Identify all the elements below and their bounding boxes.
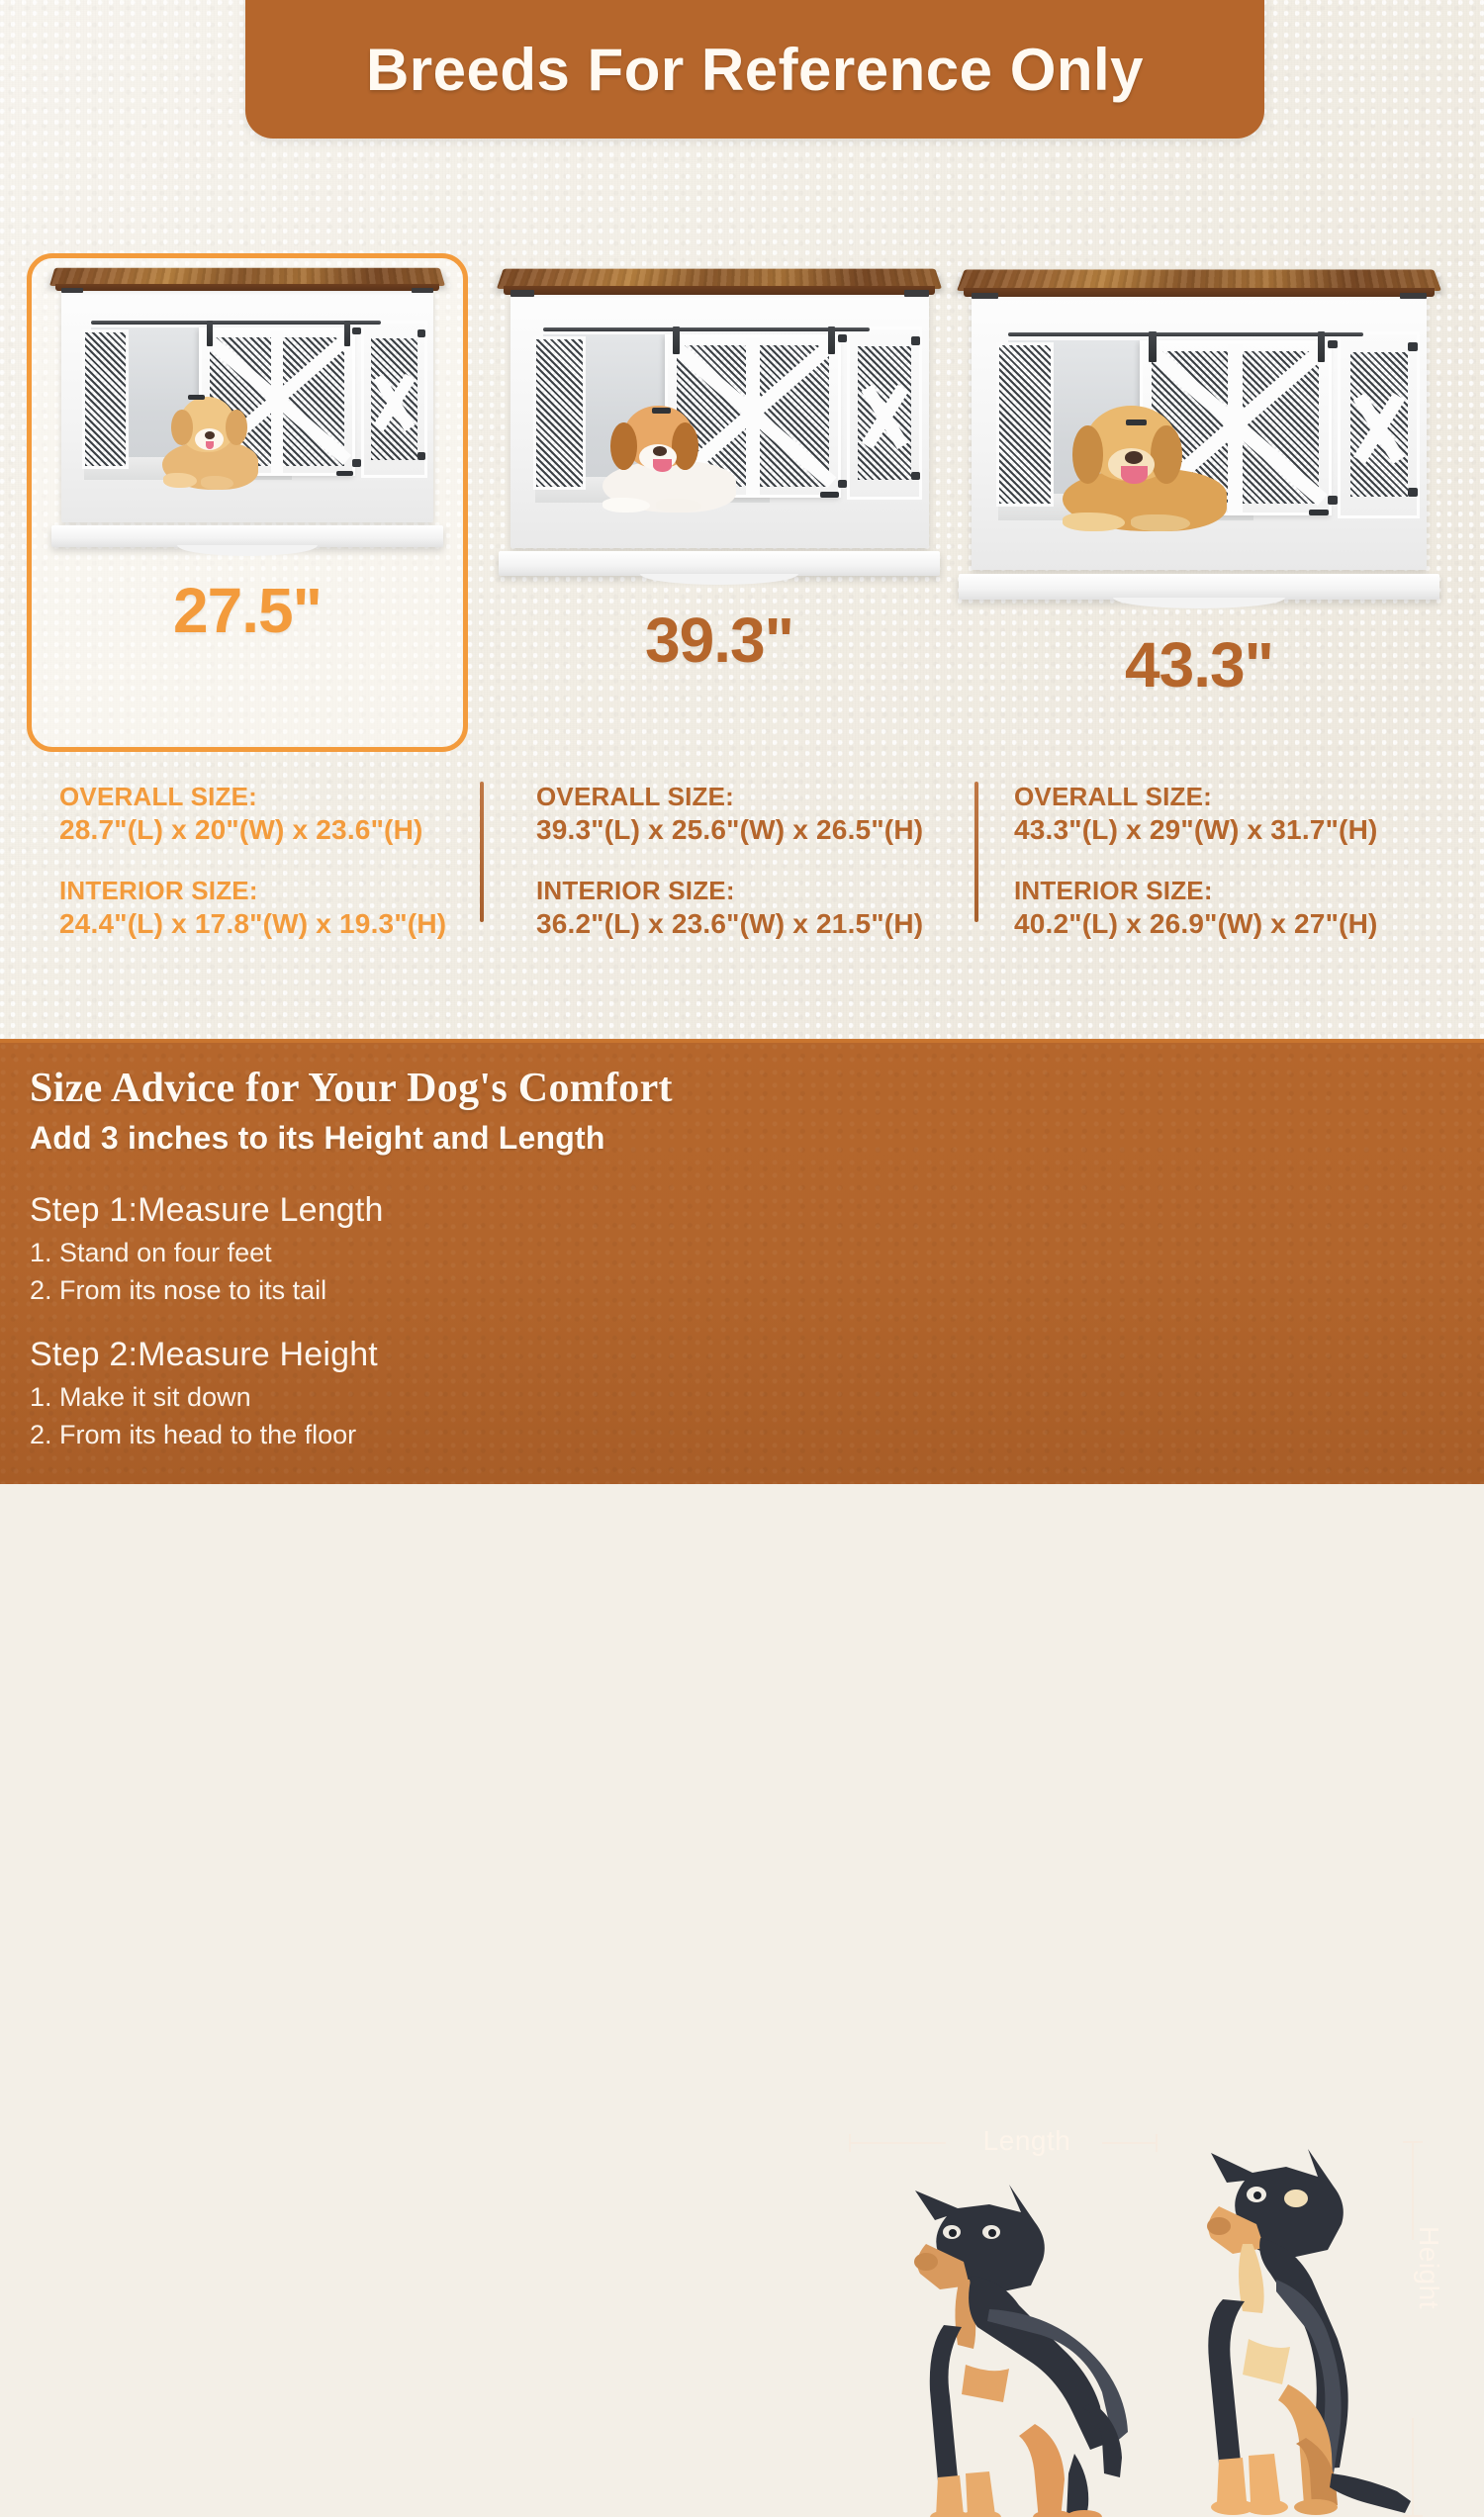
crate-body xyxy=(510,294,929,548)
step-2-line-2: 2. From its head to the floor xyxy=(30,1416,378,1453)
dog-toy-poodle xyxy=(162,397,259,490)
overall-size-value-3: 43.3"(L) x 29"(W) x 31.7"(H) xyxy=(1014,813,1449,847)
overall-size-label-3: OVERALL SIZE: xyxy=(1014,782,1449,812)
product-image-1 xyxy=(30,259,465,556)
length-label: Length xyxy=(952,2125,1102,2157)
door-latch-bottom-icon[interactable] xyxy=(1309,510,1330,515)
step-1-line-2: 2. From its nose to its tail xyxy=(30,1271,384,1309)
size-label-2: 39.3" xyxy=(492,604,947,677)
step-2-title: Step 2:Measure Height xyxy=(30,1336,378,1374)
spec-block-1: OVERALL SIZE: 28.7"(L) x 20"(W) x 23.6"(… xyxy=(59,782,475,941)
handle-icon[interactable] xyxy=(1408,488,1418,497)
wood-bracket-icon xyxy=(972,293,998,300)
hinge-icon xyxy=(838,480,847,488)
product-column-1: 27.5" xyxy=(30,259,465,647)
wood-bracket-icon xyxy=(510,290,535,296)
dog-illustration-sitting xyxy=(1158,2141,1415,2517)
wood-bracket-icon xyxy=(412,288,433,294)
x-brace-icon xyxy=(1345,349,1413,501)
product-image-3 xyxy=(952,259,1446,610)
interior-size-label-2: INTERIOR SIZE: xyxy=(536,876,962,906)
dog-beagle xyxy=(603,406,736,513)
handle-icon[interactable] xyxy=(417,329,425,336)
overall-size-label-2: OVERALL SIZE: xyxy=(536,782,962,812)
dog-illustration-standing xyxy=(841,2171,1167,2517)
height-bar-bottom xyxy=(1412,2418,1414,2517)
height-measure-guide: Height xyxy=(1397,2141,1429,2517)
crate-body xyxy=(61,291,433,522)
spec-divider-2 xyxy=(974,782,978,922)
wood-edge xyxy=(55,284,439,292)
step-1-line-1: 1. Stand on four feet xyxy=(30,1234,384,1271)
handle-icon[interactable] xyxy=(1408,342,1418,351)
advice-subtitle: Add 3 inches to its Height and Length xyxy=(30,1120,605,1157)
x-brace-icon xyxy=(854,343,915,484)
spec-block-3: OVERALL SIZE: 43.3"(L) x 29"(W) x 31.7"(… xyxy=(1014,782,1449,941)
sliding-rail xyxy=(91,321,381,325)
dog-crate-large xyxy=(957,259,1441,610)
product-image-2 xyxy=(492,259,947,586)
spec-block-2: OVERALL SIZE: 39.3"(L) x 25.6"(W) x 26.5… xyxy=(536,782,962,941)
product-column-3: 43.3" xyxy=(952,259,1446,701)
spec-divider-1 xyxy=(480,782,484,922)
crate-body xyxy=(972,296,1428,570)
interior-size-value-1: 24.4"(L) x 17.8"(W) x 19.3"(H) xyxy=(59,907,475,941)
rail-hanger-icon xyxy=(673,326,680,354)
wood-edge xyxy=(504,286,936,295)
dog-crate-medium xyxy=(497,259,942,586)
rail-hanger-icon xyxy=(828,326,835,354)
handle-icon[interactable] xyxy=(911,472,920,480)
header-banner: Breeds For Reference Only xyxy=(245,0,1264,139)
dog-crate-small xyxy=(49,259,445,556)
mesh-panel-left-icon xyxy=(996,342,1054,507)
hinge-icon xyxy=(1328,496,1338,505)
size-advice-panel: Size Advice for Your Dog's Comfort Add 3… xyxy=(0,1039,1484,1484)
rail-hanger-icon xyxy=(1149,331,1156,361)
mesh-panel-left-icon xyxy=(533,336,586,489)
interior-size-value-3: 40.2"(L) x 26.9"(W) x 27"(H) xyxy=(1014,907,1449,941)
rail-hanger-icon xyxy=(344,321,350,346)
interior-size-label-1: INTERIOR SIZE: xyxy=(59,876,475,906)
overall-size-value-2: 39.3"(L) x 25.6"(W) x 26.5"(H) xyxy=(536,813,962,847)
product-column-2: 39.3" xyxy=(492,259,947,677)
door-latch-bottom-icon[interactable] xyxy=(820,492,839,498)
overall-size-label-1: OVERALL SIZE: xyxy=(59,782,475,812)
length-measure-guide: Length xyxy=(849,2127,1158,2159)
overall-size-value-1: 28.7"(L) x 20"(W) x 23.6"(H) xyxy=(59,813,475,847)
mesh-panel-left-icon xyxy=(82,329,129,468)
door-latch-bottom-icon[interactable] xyxy=(336,471,353,476)
length-bar-left xyxy=(849,2142,946,2144)
hinge-icon xyxy=(1328,340,1338,349)
length-bar-right xyxy=(1102,2142,1158,2144)
step-2-line-1: 1. Make it sit down xyxy=(30,1378,378,1416)
door-latch-icon[interactable] xyxy=(188,395,205,400)
size-label-3: 43.3" xyxy=(952,628,1446,701)
x-brace-icon xyxy=(367,335,420,463)
wood-bracket-icon xyxy=(61,288,83,294)
hinge-icon xyxy=(838,334,847,342)
step-1-title: Step 1:Measure Length xyxy=(30,1191,384,1230)
rail-hanger-icon xyxy=(207,321,213,346)
door-latch-icon[interactable] xyxy=(652,408,671,414)
advice-step-1: Step 1:Measure Length 1. Stand on four f… xyxy=(30,1191,384,1310)
length-cap-right xyxy=(1156,2134,1158,2152)
sliding-rail xyxy=(1008,332,1363,336)
interior-size-label-3: INTERIOR SIZE: xyxy=(1014,876,1449,906)
wood-edge xyxy=(964,288,1434,297)
handle-icon[interactable] xyxy=(911,336,920,344)
advice-step-2: Step 2:Measure Height 1. Make it sit dow… xyxy=(30,1336,378,1454)
sliding-rail xyxy=(543,327,870,331)
interior-size-value-2: 36.2"(L) x 23.6"(W) x 21.5"(H) xyxy=(536,907,962,941)
crate-base-plinth xyxy=(499,551,940,576)
hinge-icon xyxy=(352,459,360,466)
wood-bracket-icon xyxy=(904,290,929,296)
advice-title: Size Advice for Your Dog's Comfort xyxy=(30,1065,673,1112)
height-label: Height xyxy=(1413,2189,1444,2347)
crate-base-plinth xyxy=(959,574,1438,601)
crate-base-plinth xyxy=(51,525,443,548)
size-label-1: 27.5" xyxy=(30,574,465,647)
door-latch-icon[interactable] xyxy=(1126,419,1147,425)
banner-title: Breeds For Reference Only xyxy=(366,28,1144,104)
wood-bracket-icon xyxy=(1400,293,1427,300)
hinge-icon xyxy=(352,327,360,334)
rail-hanger-icon xyxy=(1318,331,1325,361)
handle-icon[interactable] xyxy=(417,452,425,459)
